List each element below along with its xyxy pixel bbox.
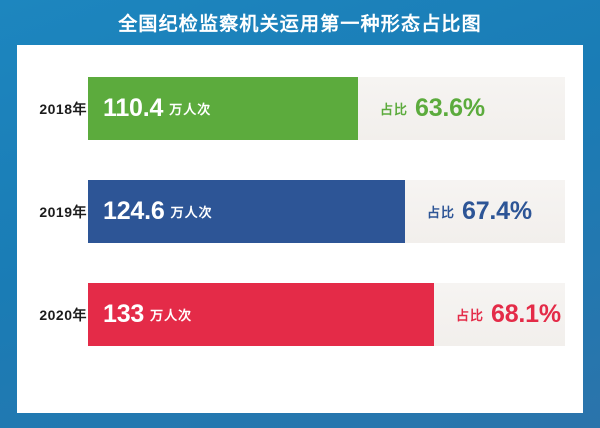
percent-value-2019: 67.4%	[462, 199, 532, 224]
category-label-2020: 2020年	[17, 283, 87, 346]
chart-title-bar: 全国纪检监察机关运用第一种形态占比图	[0, 0, 600, 44]
page-title: 全国纪检监察机关运用第一种形态占比图	[118, 9, 482, 36]
bar-unit-2018: 万人次	[169, 99, 211, 118]
percent-prefix-2019: 占比	[427, 202, 455, 221]
bar-2020: 133 万人次	[88, 283, 434, 346]
percent-prefix-2020: 占比	[456, 305, 484, 324]
percent-value-2020: 68.1%	[491, 302, 561, 327]
bar-value-2020: 133	[103, 302, 144, 327]
infographic-frame: 全国纪检监察机关运用第一种形态占比图 2018年 110.4 万人次 占比 63…	[0, 0, 600, 428]
bar-track-2018: 110.4 万人次 占比 63.6%	[88, 77, 565, 140]
chart-card: 2018年 110.4 万人次 占比 63.6% 2019年	[17, 45, 583, 413]
bar-track-2019: 124.6 万人次 占比 67.4%	[88, 180, 565, 243]
category-label-2019: 2019年	[17, 180, 87, 243]
bar-unit-2020: 万人次	[150, 305, 192, 324]
percent-block-2020: 占比 68.1%	[434, 283, 561, 346]
percent-value-2018: 63.6%	[415, 96, 485, 121]
percent-prefix-2018: 占比	[380, 99, 408, 118]
bar-track-2020: 133 万人次 占比 68.1%	[88, 283, 565, 346]
bar-value-2019: 124.6	[103, 199, 165, 224]
bar-chart-plot: 2018年 110.4 万人次 占比 63.6% 2019年	[17, 45, 583, 413]
percent-block-2018: 占比 63.6%	[358, 77, 485, 140]
bar-2018: 110.4 万人次	[88, 77, 358, 140]
bar-value-2018: 110.4	[103, 96, 163, 121]
bar-2019: 124.6 万人次	[88, 180, 405, 243]
chart-row-2020: 2020年 133 万人次 占比 68.1%	[17, 283, 583, 346]
percent-block-2019: 占比 67.4%	[405, 180, 532, 243]
category-label-2018: 2018年	[17, 77, 87, 140]
bar-unit-2019: 万人次	[171, 202, 213, 221]
chart-row-2018: 2018年 110.4 万人次 占比 63.6%	[17, 77, 583, 140]
chart-row-2019: 2019年 124.6 万人次 占比 67.4%	[17, 180, 583, 243]
